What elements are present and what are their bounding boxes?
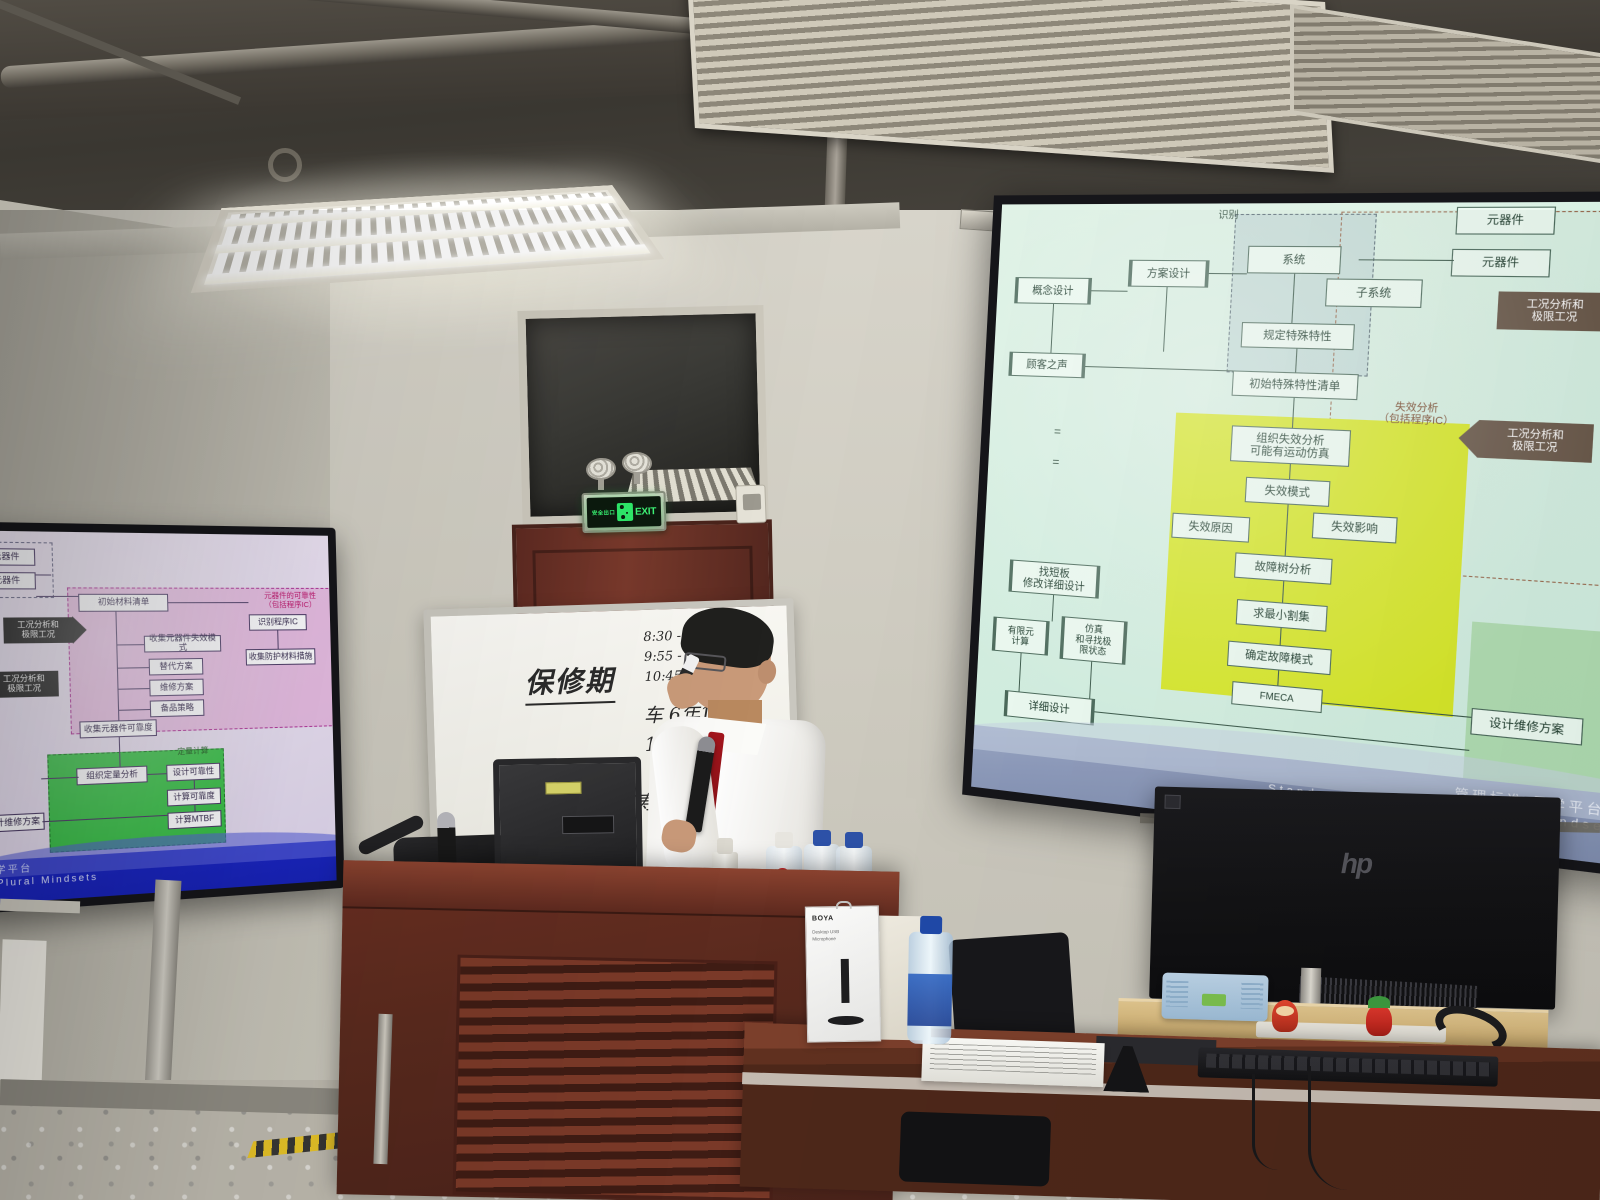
tv-flowbox-component-2: 元器件	[0, 572, 36, 590]
flowbox-component-1: 元器件	[1455, 207, 1556, 235]
emergency-light-stem	[598, 478, 604, 490]
bottle-cap	[775, 832, 793, 848]
flowbox-failure-cause: 失效原因	[1171, 513, 1250, 543]
flowbox-special-characteristics: 规定特殊特性	[1241, 322, 1355, 350]
slide-connector	[1085, 366, 1233, 372]
blue-drink-bottle	[907, 932, 953, 1045]
wall-power-socket[interactable]	[735, 484, 766, 523]
running-man-icon	[617, 503, 633, 521]
tv-flowbox-org-quant-analysis: 组织定量分析	[76, 766, 147, 786]
exit-sign-label-cn: 安全出口	[592, 508, 615, 517]
tv-note-component-reliability: 元器件的可靠性 （包括程序IC）	[252, 592, 328, 610]
projection-screen: 识别 概念设计 方案设计 系统 子系统 元器件 元器件 顾客之声 规定特殊特性 …	[962, 191, 1600, 879]
flowbox-failure-mode: 失效模式	[1245, 477, 1331, 507]
tv-arrow-condition-2: 工况分析和 极限工况	[0, 671, 59, 698]
tv-flowbox-collect-failure-mode: 收集元器件失效模式	[144, 635, 221, 652]
flowbox-failure-effect: 失效影响	[1312, 512, 1398, 543]
chair-seat	[899, 1111, 1051, 1186]
device-sticker	[1202, 994, 1226, 1007]
bottle-cap	[813, 830, 831, 846]
emergency-exit-sign: 安全出口 EXIT	[581, 491, 666, 533]
tv-flowbox-collect-reliability: 收集元器件可靠度	[79, 719, 157, 738]
slide-arrow-condition-2: 工况分析和 极限工况	[1477, 420, 1594, 463]
hp-logo: hp	[1341, 848, 1371, 880]
figurine-toy	[1272, 1000, 1298, 1032]
tv-arrow-condition-1: 工况分析和 极限工况	[3, 617, 73, 643]
tv-flowbox-design-reliability: 设计可靠性	[166, 763, 220, 782]
tv-flowbox-alternative-plan: 替代方案	[149, 658, 204, 676]
boya-microphone-box: BOYA Desktop USB Microphone	[805, 905, 881, 1042]
wall-poster	[0, 939, 47, 1090]
microphone-illustration-icon	[823, 959, 866, 1026]
exit-sign-label-en: EXIT	[635, 506, 656, 518]
exit-sign-face: 安全出口 EXIT	[587, 496, 662, 528]
tv-flowbox-design-maintenance: 设计维修方案	[0, 813, 45, 833]
boya-brand-label: BOYA	[812, 915, 834, 922]
wall-tv-display[interactable]: 元器件 元器件 初始材料清单 识别程序IC 收集元器件失效模式 替代方案 维修方…	[0, 522, 345, 915]
flowbox-scheme-design: 方案设计	[1128, 260, 1210, 288]
flowbox-detailed-design: 详细设计	[1004, 690, 1095, 726]
slide-connector	[1089, 662, 1092, 699]
tv-flowbox-component-1: 元器件	[0, 548, 35, 566]
tv-flowbox-collect-anti-material: 收集防护材料措施	[246, 648, 316, 665]
tv-connector	[168, 602, 248, 603]
tv-slide: 元器件 元器件 初始材料清单 识别程序IC 收集元器件失效模式 替代方案 维修方…	[0, 530, 337, 905]
slide-arrow-condition-1: 工况分析和 极限工况	[1496, 291, 1600, 331]
tv-connector	[194, 780, 195, 788]
emergency-light-stem	[634, 472, 640, 484]
podium-louver-panel	[453, 955, 778, 1200]
slide-connector	[1163, 287, 1168, 352]
tv-flowbox-initial-material-list: 初始材料清单	[78, 594, 168, 612]
lectern-monitor[interactable]	[493, 757, 643, 880]
flowbox-fea-calc: 有限元 计算	[992, 617, 1050, 656]
classroom-scene: 安全出口 EXIT 识别 概念设计 方案设计 系统 子系统 元器件 元器件 顾客…	[0, 0, 1600, 1200]
power-cable	[1308, 1066, 1348, 1190]
bottle-cap	[845, 832, 863, 848]
flowbox-concept-design: 概念设计	[1014, 277, 1092, 305]
paper-text-lines	[930, 1043, 1097, 1075]
tv-flowbox-calc-reliability: 计算可靠度	[167, 787, 221, 806]
slide-connector	[1209, 273, 1247, 275]
tv-flowbox-calc-mtbf: 计算MTBF	[167, 810, 221, 829]
power-cable	[1252, 1074, 1278, 1170]
device-vent-icon	[1166, 981, 1189, 1008]
slide-connector	[1091, 290, 1127, 292]
boya-product-label: Desktop USB Microphone	[812, 929, 839, 943]
flowbox-voice-of-customer: 顾客之声	[1008, 352, 1086, 379]
paper-stack	[921, 1037, 1104, 1087]
tv-flowbox-recognize-program-ic: 识别程序IC	[249, 614, 307, 631]
flowbox-sim-limit-state: 仿真 和寻找极 限状态	[1059, 616, 1127, 665]
tv-connector	[36, 596, 78, 597]
flowbox-system: 系统	[1247, 246, 1342, 274]
device-vent-icon	[1241, 983, 1264, 1010]
tv-flowbox-repair-plan: 维修方案	[149, 679, 204, 697]
flowbox-org-failure-analysis: 组织失效分析 可能有运动仿真	[1230, 425, 1351, 467]
projected-slide: 识别 概念设计 方案设计 系统 子系统 元器件 元器件 顾客之声 规定特殊特性 …	[971, 202, 1600, 868]
box-hanger-tab	[836, 901, 852, 909]
flowbox-component-2: 元器件	[1451, 249, 1551, 278]
flowbox-initial-sc-list: 初始特殊特性清单	[1232, 370, 1359, 400]
blue-mini-pc[interactable]	[1161, 973, 1268, 1022]
bottle-cap	[920, 916, 942, 934]
monitor-port-panel	[562, 815, 614, 834]
hvac-vent-grille	[686, 0, 1334, 173]
monitor-badge-icon	[1164, 795, 1180, 809]
monitor-sticker	[545, 782, 581, 795]
tv-connector	[194, 805, 195, 811]
slide-connector	[1019, 653, 1022, 691]
tv-flowbox-spare-strategy: 备品策略	[150, 699, 205, 717]
flowbox-find-weak-point: 找短板 修改详细设计	[1008, 559, 1100, 598]
bottle-label	[907, 974, 952, 1027]
pipe-valve-icon	[265, 145, 304, 184]
whiteboard-title: 保修期	[524, 659, 615, 706]
slide-connector	[1052, 595, 1055, 621]
slide-label-identify: 识别	[1218, 210, 1239, 222]
flowbox-subsystem: 子系统	[1325, 278, 1423, 308]
slide-connector	[1050, 304, 1054, 353]
tomato-figurine-toy	[1366, 1004, 1392, 1036]
tv-connector	[36, 574, 52, 575]
